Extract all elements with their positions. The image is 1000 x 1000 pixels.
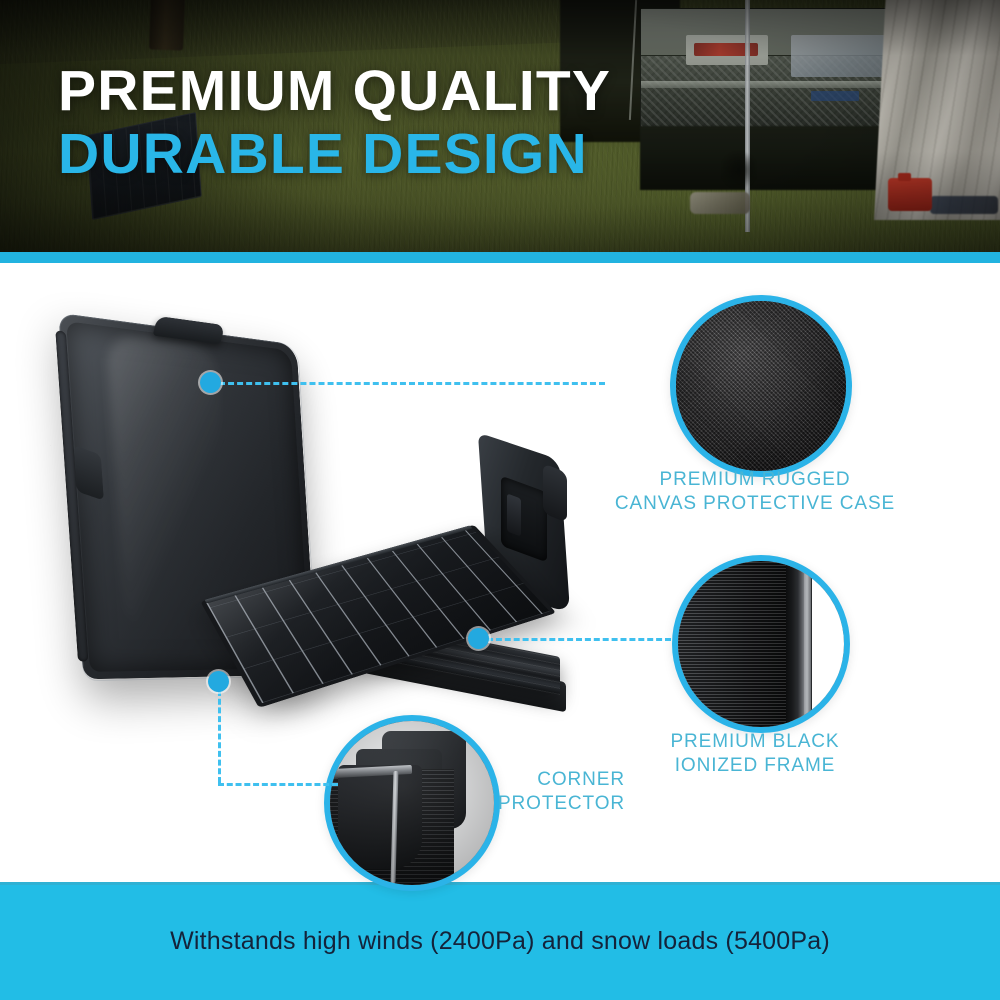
hero-banner: PREMIUM QUALITY DURABLE DESIGN (0, 0, 1000, 252)
callout-dot-ionized-frame[interactable] (468, 628, 489, 649)
headline-line-1: PREMIUM QUALITY (58, 62, 611, 121)
callout-label-corner-protector-line2: PROTECTOR (300, 792, 625, 816)
headline-line-2: DURABLE DESIGN (58, 125, 611, 184)
callout-label-canvas-case-line2: CANVAS PROTECTIVE CASE (585, 492, 925, 516)
solar-panel-stack (250, 476, 570, 686)
frame-ribbing (672, 555, 790, 733)
anodized-frame-body-icon (672, 555, 790, 733)
callout-label-ionized-frame-line2: IONIZED FRAME (600, 754, 910, 778)
frame-scene (678, 561, 844, 727)
infographic-page: PREMIUM QUALITY DURABLE DESIGN (0, 0, 1000, 1000)
callout-dot-canvas-case[interactable] (200, 372, 221, 393)
main-content: PREMIUM RUGGED CANVAS PROTECTIVE CASE PR… (0, 263, 1000, 882)
hero-divider-stripe (0, 252, 1000, 263)
footer-text: Withstands high winds (2400Pa) and snow … (0, 882, 1000, 1000)
canvas-shading (676, 301, 846, 471)
callout-label-canvas-case-line1: PREMIUM RUGGED (585, 468, 925, 492)
callout-line-ionized-frame (487, 638, 671, 641)
callout-line-corner-protector-horizontal (218, 783, 338, 786)
callout-label-canvas-case: PREMIUM RUGGED CANVAS PROTECTIVE CASE (585, 468, 925, 517)
hero-headline-block: PREMIUM QUALITY DURABLE DESIGN (58, 62, 611, 185)
frame-specular-line (804, 555, 811, 733)
callout-line-corner-protector-vertical (218, 690, 221, 783)
callout-label-corner-protector: CORNER PROTECTOR (300, 768, 625, 817)
callout-circle-ionized-frame[interactable] (672, 555, 850, 733)
callout-dot-corner-protector[interactable] (208, 671, 229, 692)
callout-label-corner-protector-line1: CORNER (300, 768, 625, 792)
callout-label-ionized-frame-line1: PREMIUM BLACK (600, 730, 910, 754)
callout-label-ionized-frame: PREMIUM BLACK IONIZED FRAME (600, 730, 910, 779)
callout-line-canvas-case (219, 382, 605, 385)
footer-banner: Withstands high winds (2400Pa) and snow … (0, 882, 1000, 1000)
callout-circle-canvas-case[interactable] (670, 295, 852, 477)
